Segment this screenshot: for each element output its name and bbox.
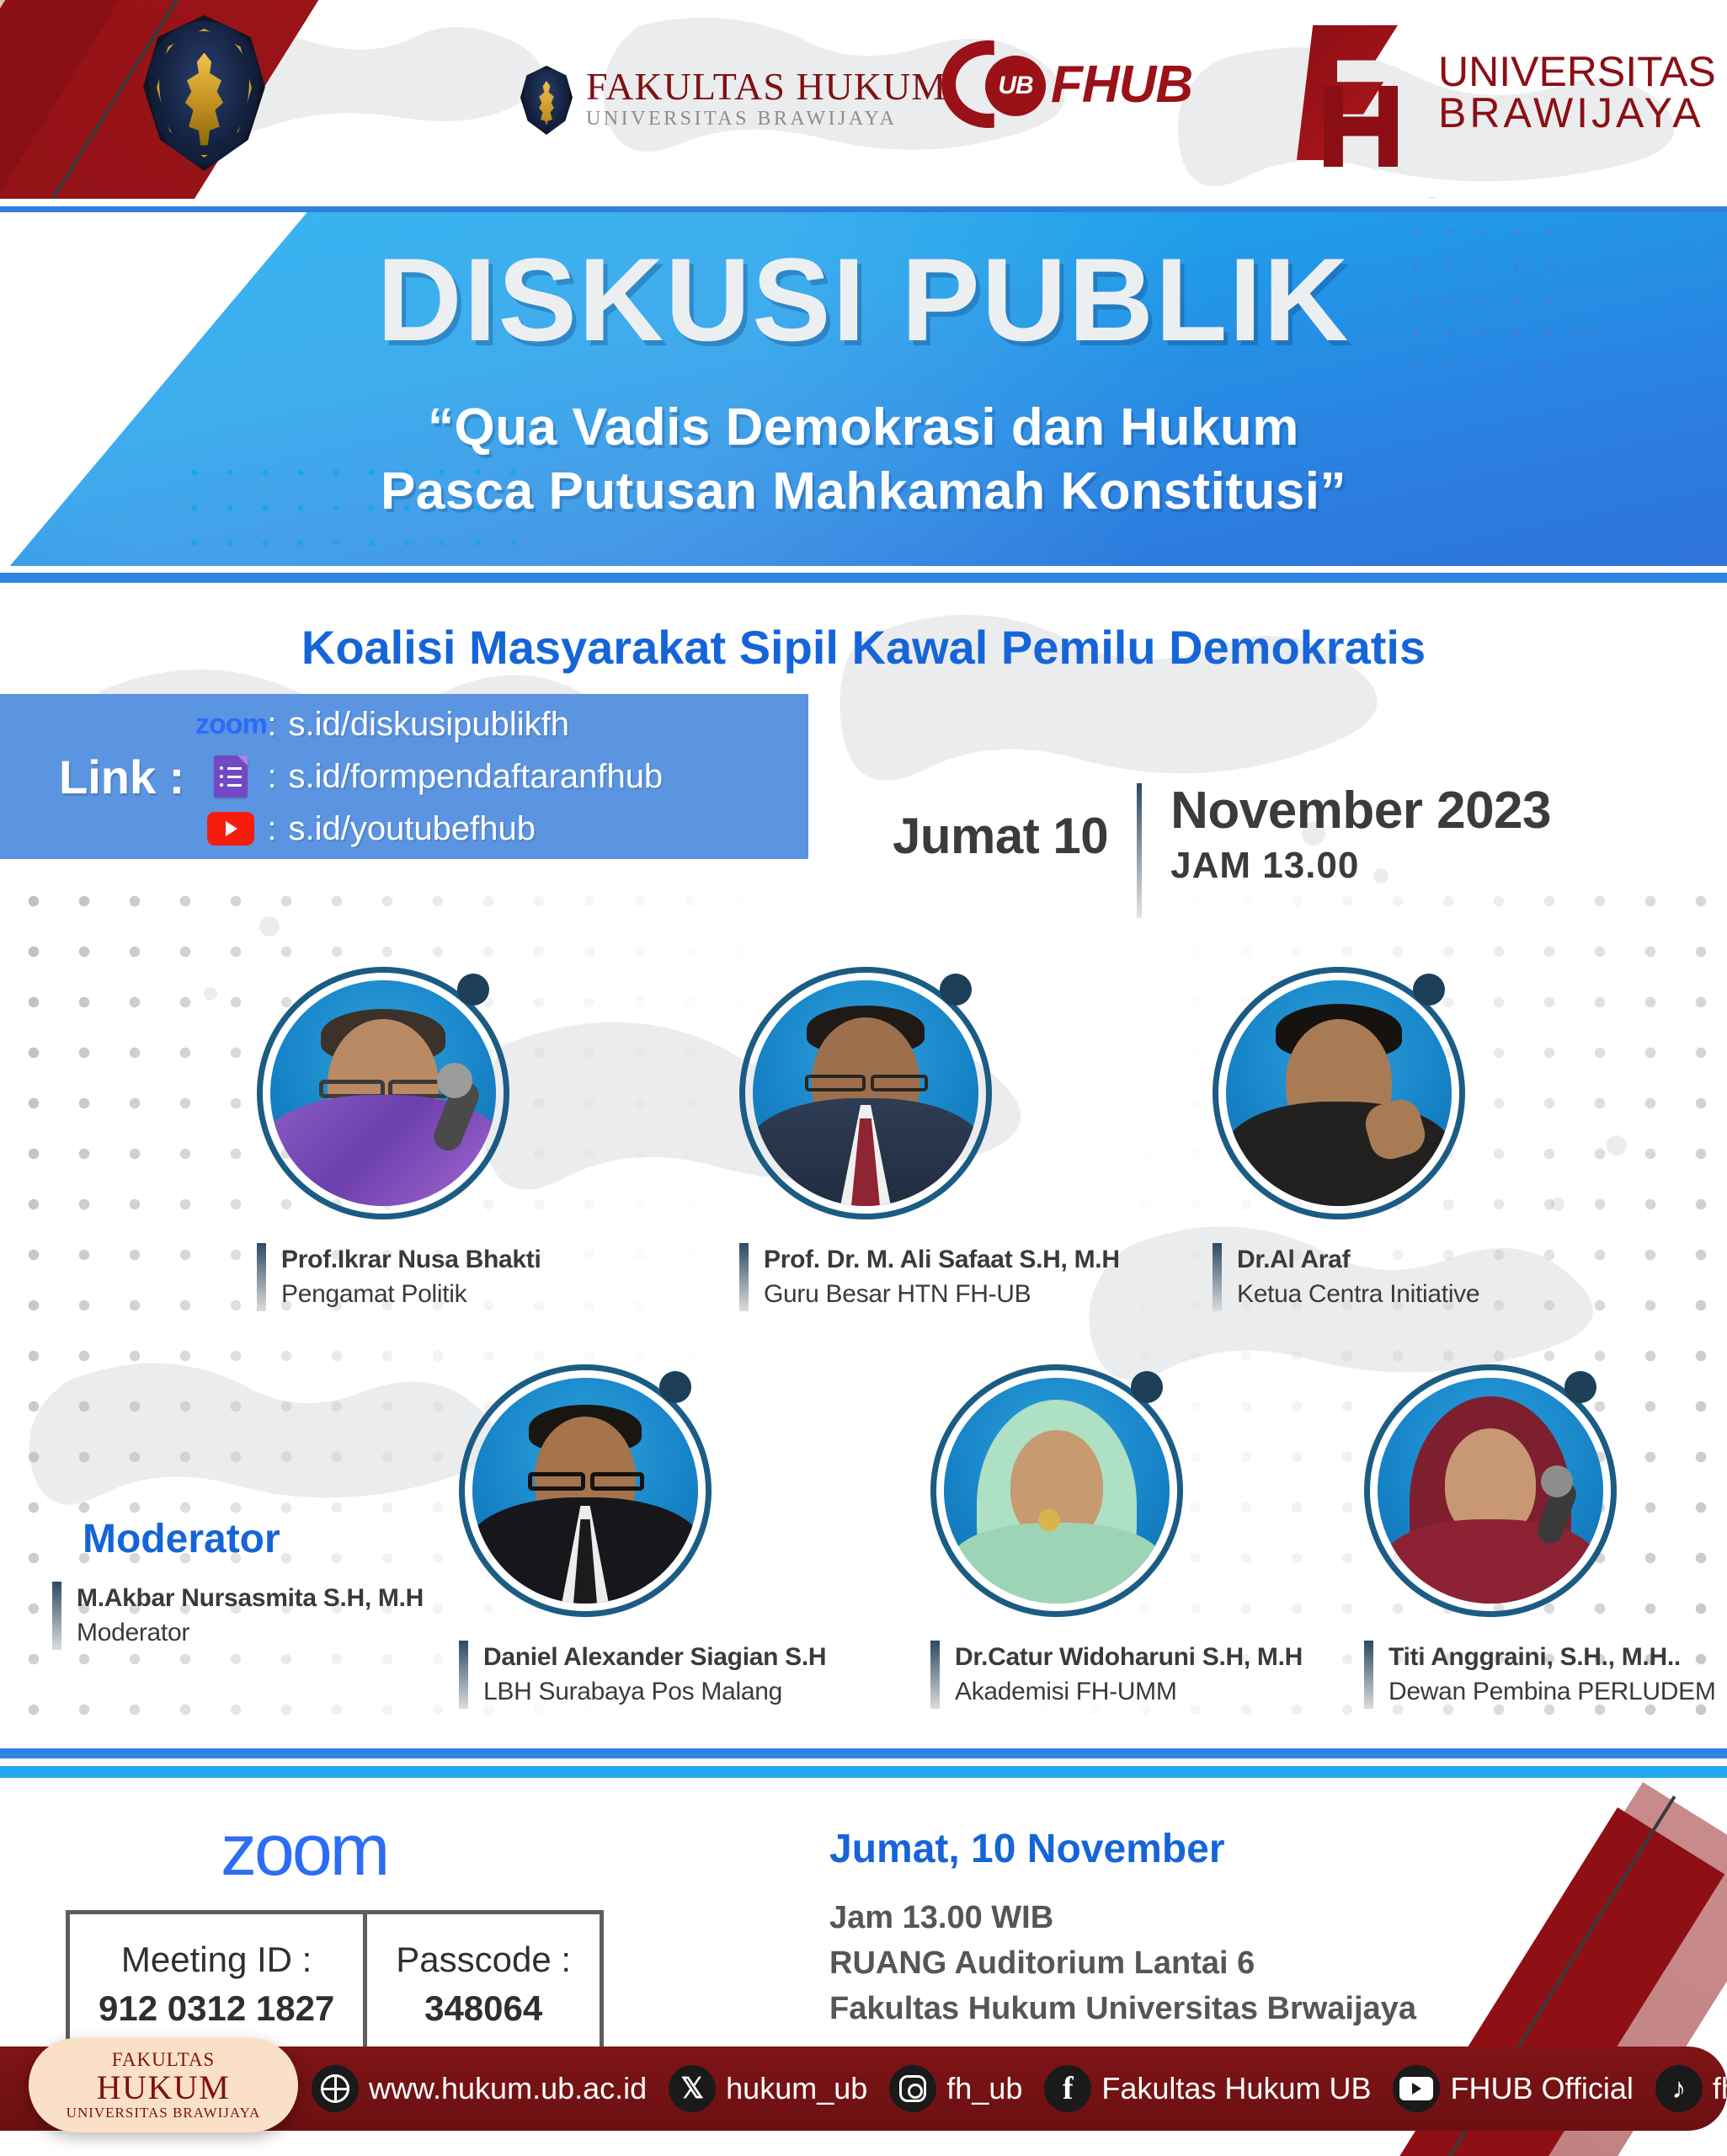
- avatar: [739, 967, 992, 1219]
- link-row-youtube[interactable]: : s.id/youtubefhub: [206, 808, 663, 850]
- youtube-icon: [206, 812, 255, 846]
- fhub-swoosh-icon: UB: [941, 40, 1046, 128]
- link-row-form[interactable]: : s.id/formpendaftaranfhub: [206, 755, 663, 798]
- link-form-separator: :: [267, 758, 276, 796]
- link-youtube-separator: :: [267, 810, 276, 848]
- speaker-card-5: Dr.Catur Widoharuni S.H, M.H Akademisi F…: [930, 1364, 1309, 1709]
- section-separator-cyan: [0, 1766, 1727, 1778]
- zoom-icon: zoom: [206, 708, 255, 741]
- nameplate-bar: [739, 1243, 749, 1311]
- avatar-accent-dot: [1564, 1371, 1596, 1403]
- poster-header: FAKULTAS HUKUM UNIVERSITAS BRAWIJAYA UB …: [0, 0, 1727, 215]
- link-form-url[interactable]: s.id/formpendaftaranfhub: [288, 758, 663, 796]
- coalition-line: Koalisi Masyarakat Sipil Kawal Pemilu De…: [0, 620, 1727, 675]
- moderator-name: M.Akbar Nursasmita S.H, M.H: [77, 1582, 424, 1616]
- speaker-role: LBH Surabaya Pos Malang: [483, 1675, 826, 1710]
- section-separator-blue: [0, 1748, 1727, 1758]
- nameplate-bar: [930, 1641, 940, 1709]
- link-row-zoom[interactable]: zoom : s.id/diskusipublikfh: [206, 703, 663, 745]
- avatar-accent-dot: [1131, 1371, 1163, 1403]
- tiktok-icon: ♪: [1655, 2065, 1703, 2112]
- facebook-icon: f: [1044, 2065, 1091, 2112]
- passcode-cell: Passcode : 348064: [363, 1914, 600, 2055]
- page-title: DISKUSI PUBLIK: [0, 241, 1727, 359]
- link-zoom-separator: :: [267, 706, 276, 744]
- meeting-id-label: Meeting ID :: [99, 1936, 334, 1984]
- fhub-ub-mark: UB: [985, 56, 1046, 116]
- hero-subtitle: “Qua Vadis Demokrasi dan Hukum Pasca Put…: [0, 396, 1727, 523]
- speaker-role: Ketua Centra Initiative: [1237, 1278, 1479, 1312]
- universitas-brawijaya-seal-icon: [143, 15, 265, 171]
- tiktok-handle: fhub_official: [1713, 2071, 1727, 2106]
- social-item-twitter[interactable]: 𝕏 hukum_ub: [669, 2065, 867, 2112]
- event-time: JAM 13.00: [1170, 845, 1551, 887]
- moderator-nameplate: M.Akbar Nursasmita S.H, M.H Moderator: [52, 1582, 424, 1650]
- badge-line2: HUKUM: [97, 2071, 231, 2105]
- universitas-logo-line2: BRAWIJAYA: [1438, 92, 1716, 134]
- avatar-accent-dot: [940, 974, 972, 1006]
- avatar: [459, 1364, 712, 1617]
- speaker-card-2: Prof. Dr. M. Ali Safaat S.H, M.H Guru Be…: [739, 967, 1143, 1311]
- speaker-role: Pengamat Politik: [281, 1278, 541, 1312]
- badge-line3: UNIVERSITAS BRAWIJAYA: [67, 2105, 261, 2121]
- date-divider: [1137, 783, 1142, 918]
- instagram-icon: [889, 2065, 936, 2112]
- link-youtube-url[interactable]: s.id/youtubefhub: [288, 810, 536, 848]
- instagram-handle: fh_ub: [946, 2071, 1022, 2106]
- speaker-name: Prof. Dr. M. Ali Safaat S.H, M.H: [764, 1243, 1120, 1278]
- avatar: [1213, 967, 1465, 1219]
- universitas-brawijaya-logo: UNIVERSITAS BRAWIJAYA: [1280, 25, 1716, 160]
- speaker-role: Dewan Pembina PERLUDEM: [1389, 1675, 1716, 1710]
- passcode-value: 348064: [396, 1984, 571, 2034]
- moderator-heading: Moderator: [83, 1516, 280, 1562]
- avatar: [1364, 1364, 1617, 1617]
- hero-band-bottom-white2: [0, 583, 1727, 589]
- speaker-name: Dr.Al Araf: [1237, 1243, 1479, 1278]
- fakultas-hukum-logo-line2: UNIVERSITAS BRAWIJAYA: [586, 106, 946, 132]
- avatar: [257, 967, 509, 1219]
- hero-band-bottom-white: [0, 566, 1727, 573]
- speaker-role: Guru Besar HTN FH-UB: [764, 1278, 1120, 1312]
- fh-monogram-icon: [1280, 25, 1431, 160]
- speaker-card-1: Prof.Ikrar Nusa Bhakti Pengamat Politik: [257, 967, 644, 1311]
- fakultas-hukum-logo: FAKULTAS HUKUM UNIVERSITAS BRAWIJAYA: [520, 66, 946, 135]
- avatar-accent-dot: [457, 974, 489, 1006]
- speaker-card-3: Dr.Al Araf Ketua Centra Initiative: [1213, 967, 1600, 1311]
- website-handle: www.hukum.ub.ac.id: [369, 2071, 647, 2106]
- venue-block: Jumat, 10 November Jam 13.00 WIB RUANG A…: [829, 1826, 1416, 2032]
- speaker-nameplate: Titi Anggraini, S.H., M.H.. Dewan Pembin…: [1364, 1641, 1726, 1709]
- avatar-accent-dot: [1413, 974, 1445, 1006]
- facebook-handle: Fakultas Hukum UB: [1101, 2071, 1371, 2106]
- speaker-name: Titi Anggraini, S.H., M.H..: [1389, 1641, 1716, 1675]
- speaker-nameplate: Prof. Dr. M. Ali Safaat S.H, M.H Guru Be…: [739, 1243, 1143, 1311]
- x-twitter-icon: 𝕏: [669, 2065, 716, 2112]
- universitas-logo-line1: UNIVERSITAS: [1438, 51, 1716, 92]
- zoom-logo: zoom: [221, 1809, 387, 1892]
- event-date-block: Jumat 10 November 2023 JAM 13.00: [893, 783, 1551, 918]
- footer-fakultas-hukum-badge: FAKULTAS HUKUM UNIVERSITAS BRAWIJAYA: [29, 2038, 298, 2132]
- nameplate-bar: [52, 1582, 61, 1650]
- venue-line-1: Jam 13.00 WIB: [829, 1896, 1416, 1941]
- link-zoom-url[interactable]: s.id/diskusipublikfh: [288, 706, 569, 744]
- poster-root: FAKULTAS HUKUM UNIVERSITAS BRAWIJAYA UB …: [0, 0, 1727, 2156]
- speaker-name: Dr.Catur Widoharuni S.H, M.H: [955, 1641, 1303, 1675]
- event-day: Jumat 10: [893, 783, 1108, 865]
- venue-title: Jumat, 10 November: [829, 1826, 1416, 1872]
- speaker-nameplate: Dr.Catur Widoharuni S.H, M.H Akademisi F…: [930, 1641, 1309, 1709]
- event-month-year: November 2023: [1170, 783, 1551, 838]
- speaker-name: Daniel Alexander Siagian S.H: [483, 1641, 826, 1675]
- hero-band-top-white: [0, 199, 1727, 206]
- fhub-logo: UB FHUB: [941, 40, 1192, 128]
- section-separator-white: [0, 1758, 1727, 1766]
- globe-icon: [312, 2065, 359, 2112]
- social-item-facebook[interactable]: f Fakultas Hukum UB: [1044, 2065, 1371, 2112]
- speaker-nameplate: Dr.Al Araf Ketua Centra Initiative: [1213, 1243, 1600, 1311]
- link-panel-label: Link :: [59, 750, 184, 804]
- social-item-website[interactable]: www.hukum.ub.ac.id: [312, 2065, 647, 2112]
- fakultas-hukum-logo-line1: FAKULTAS HUKUM: [586, 67, 946, 106]
- meeting-id-value: 912 0312 1827: [99, 1984, 334, 2034]
- nameplate-bar: [459, 1641, 468, 1709]
- hero-band-bottom-blue: [0, 573, 1727, 583]
- meeting-id-cell: Meeting ID : 912 0312 1827: [70, 1914, 363, 2055]
- nameplate-bar: [1364, 1641, 1373, 1709]
- nameplate-bar: [257, 1243, 266, 1311]
- speaker-role: Akademisi FH-UMM: [955, 1675, 1303, 1710]
- speaker-nameplate: Daniel Alexander Siagian S.H LBH Surabay…: [459, 1641, 855, 1709]
- google-forms-icon: [206, 755, 255, 798]
- hero-band-top-blue: [0, 206, 1727, 212]
- hero-subtitle-line2: Pasca Putusan Mahkamah Konstitusi”: [0, 460, 1727, 524]
- twitter-handle: hukum_ub: [726, 2071, 867, 2106]
- social-item-tiktok[interactable]: ♪ fhub_official: [1655, 2065, 1727, 2112]
- fakultas-hukum-seal-icon: [520, 66, 573, 135]
- moderator-role: Moderator: [77, 1616, 424, 1651]
- link-panel: Link : zoom : s.id/diskusipublikfh : s.i…: [0, 694, 808, 859]
- social-item-instagram[interactable]: fh_ub: [889, 2065, 1022, 2112]
- venue-line-2: RUANG Auditorium Lantai 6: [829, 1941, 1416, 1987]
- social-item-youtube[interactable]: FHUB Official: [1393, 2065, 1633, 2112]
- passcode-label: Passcode :: [396, 1936, 571, 1984]
- speaker-nameplate: Prof.Ikrar Nusa Bhakti Pengamat Politik: [257, 1243, 644, 1311]
- venue-line-3: Fakultas Hukum Universitas Brwaijaya: [829, 1987, 1416, 2032]
- youtube-handle: FHUB Official: [1450, 2071, 1633, 2106]
- avatar-accent-dot: [659, 1371, 691, 1403]
- speaker-card-6: Titi Anggraini, S.H., M.H.. Dewan Pembin…: [1364, 1364, 1726, 1709]
- youtube-icon: [1393, 2065, 1440, 2112]
- avatar: [930, 1364, 1183, 1617]
- fhub-wordmark: FHUB: [1051, 55, 1192, 115]
- speaker-card-4: Daniel Alexander Siagian S.H LBH Surabay…: [459, 1364, 855, 1709]
- zoom-credentials-box: Meeting ID : 912 0312 1827 Passcode : 34…: [66, 1910, 604, 2059]
- hero-subtitle-line1: “Qua Vadis Demokrasi dan Hukum: [0, 396, 1727, 460]
- speaker-name: Prof.Ikrar Nusa Bhakti: [281, 1243, 541, 1278]
- nameplate-bar: [1213, 1243, 1222, 1311]
